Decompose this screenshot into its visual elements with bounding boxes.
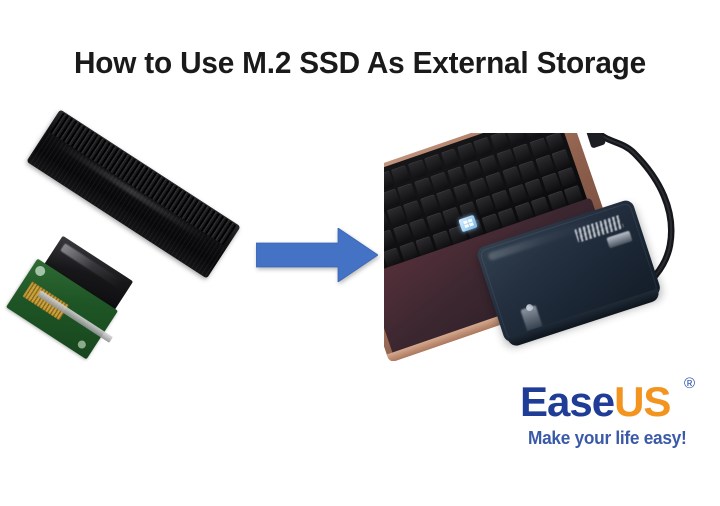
registered-trademark-icon: ® bbox=[684, 376, 695, 391]
transfer-arrow bbox=[256, 228, 378, 282]
m2-ssd-illustration bbox=[8, 135, 258, 360]
page-title: How to Use M.2 SSD As External Storage bbox=[14, 40, 705, 86]
m2-ssd-photo bbox=[8, 135, 258, 360]
laptop-external-drive-photo bbox=[384, 133, 714, 361]
easeus-wordmark-secondary: US bbox=[614, 378, 670, 425]
ssd-pcb-screw-hole bbox=[76, 339, 87, 350]
easeus-wordmark: EaseUS bbox=[520, 378, 670, 426]
easeus-tagline: Make your life easy! bbox=[528, 428, 686, 449]
easeus-wordmark-primary: Ease bbox=[520, 378, 614, 425]
easeus-logo: EaseUS ® Make your life easy! bbox=[520, 378, 716, 456]
poster-canvas: How to Use M.2 SSD As External Storage bbox=[0, 0, 720, 506]
